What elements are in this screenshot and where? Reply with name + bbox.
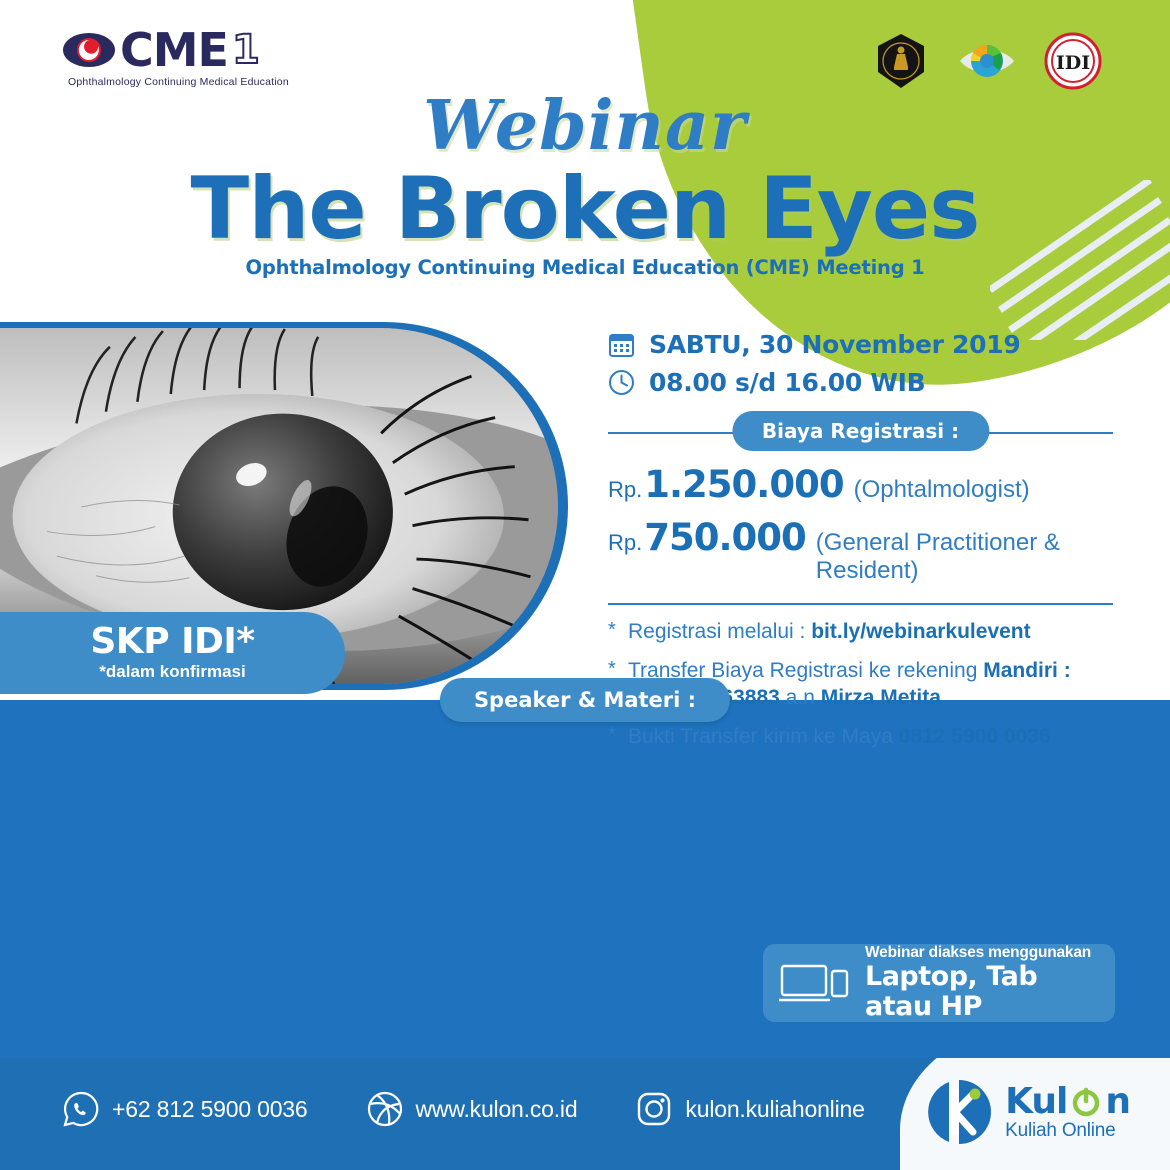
cme-eye-icon [62,32,116,68]
whatsapp-number: +62 812 5900 0036 [112,1096,308,1123]
event-time: 08.00 s/d 16.00 WIB [649,368,925,397]
bullet-dot-icon: * [608,619,618,646]
bullet-item: * Registrasi melalui : bit.ly/webinarkul… [608,619,1113,646]
kulon-tagline: Kuliah Online [1005,1121,1130,1140]
device-text: Webinar diakses menggunakan Laptop, Tab … [865,944,1099,1022]
footer-contacts: +62 812 5900 0036 www.kulon.co.id kulon.… [62,1090,865,1128]
kulon-logo: Kul n Kuliah Online [923,1076,1130,1148]
price-row-2: Rp. 750.000 (General Practitioner & Resi… [608,516,1113,585]
currency-label-1: Rp. [608,477,642,503]
price-amount-1: 1.250.000 [644,463,843,506]
footer-whatsapp[interactable]: +62 812 5900 0036 [62,1090,308,1128]
event-time-row: 08.00 s/d 16.00 WIB [608,368,1113,397]
laptop-tablet-icon [779,960,851,1006]
kulon-kul: Kul [1005,1084,1067,1121]
cme-subtitle: Ophthalmology Continuing Medical Educati… [68,76,289,88]
whatsapp-icon [62,1090,100,1128]
calendar-icon [608,331,635,358]
eye-colorful-logo-icon [958,32,1016,90]
instagram-icon [635,1090,673,1128]
poster-canvas: CME 1 Ophthalmology Continuing Medical E… [0,0,1170,1170]
device-list: Laptop, Tab atau HP [865,962,1099,1022]
title-subtitle: Ophthalmology Continuing Medical Educati… [0,256,1170,279]
kulon-name: Kul n [1005,1084,1130,1121]
cme-logo: CME 1 Ophthalmology Continuing Medical E… [62,27,289,88]
skp-idi-note: *dalam konfirmasi [99,662,245,682]
divider-line-bottom [608,603,1113,605]
page-title: The Broken Eyes [0,164,1170,254]
price-row-1: Rp. 1.250.000 (Ophtalmologist) [608,463,1113,506]
fee-header-pill: Biaya Registrasi : [732,411,989,451]
kulon-n: n [1105,1084,1130,1121]
price-audience-2: (General Practitioner & Resident) [816,529,1113,585]
kulon-wordmark: Kul n Kuliah Online [1005,1084,1130,1140]
skp-idi-label: SKP IDI* [90,624,254,660]
title-block: Webinar The Broken Eyes Ophthalmology Co… [0,92,1170,279]
currency-label-2: Rp. [608,530,642,556]
universitas-brawijaya-seal-icon [872,32,930,90]
device-info-box: Webinar diakses menggunakan Laptop, Tab … [763,944,1115,1022]
price-amount-2: 750.000 [644,516,806,559]
instagram-handle: kulon.kuliahonline [685,1096,864,1123]
clock-icon [608,369,635,396]
device-caption: Webinar diakses menggunakan [865,944,1099,962]
globe-icon [366,1090,404,1128]
bullet-registration: Registrasi melalui : bit.ly/webinarkulev… [628,619,1031,646]
power-o-icon [1071,1087,1101,1117]
footer-instagram[interactable]: kulon.kuliahonline [635,1090,864,1128]
speakers-header-pill: Speaker & Materi : [440,678,730,722]
fee-header-row: Biaya Registrasi : [608,411,1113,453]
svg-text:IDI: IDI [1056,52,1090,74]
website-url: www.kulon.co.id [416,1096,578,1123]
cme-meeting-number: 1 [232,30,260,70]
event-date: SABTU, 30 November 2019 [649,330,1020,359]
idi-logo-icon: IDI [1044,32,1102,90]
bullet-item: * Bukti Transfer kirim ke Maya 0812 5900… [608,724,1113,751]
partner-logos: IDI [872,32,1102,90]
cme-wordmark: CME [120,27,228,73]
kulon-k-monogram-icon [923,1076,995,1148]
footer-bar: +62 812 5900 0036 www.kulon.co.id kulon.… [0,1058,1170,1170]
footer-website[interactable]: www.kulon.co.id [366,1090,578,1128]
bullet-dot-icon: * [608,724,618,751]
bullet-proof: Bukti Transfer kirim ke Maya 0812 5900 0… [628,724,1051,751]
price-audience-1: (Ophtalmologist) [854,476,1030,504]
event-date-row: SABTU, 30 November 2019 [608,330,1113,359]
skp-idi-badge: SKP IDI* *dalam konfirmasi [0,612,345,694]
webinar-script-title: Webinar [0,92,1170,160]
